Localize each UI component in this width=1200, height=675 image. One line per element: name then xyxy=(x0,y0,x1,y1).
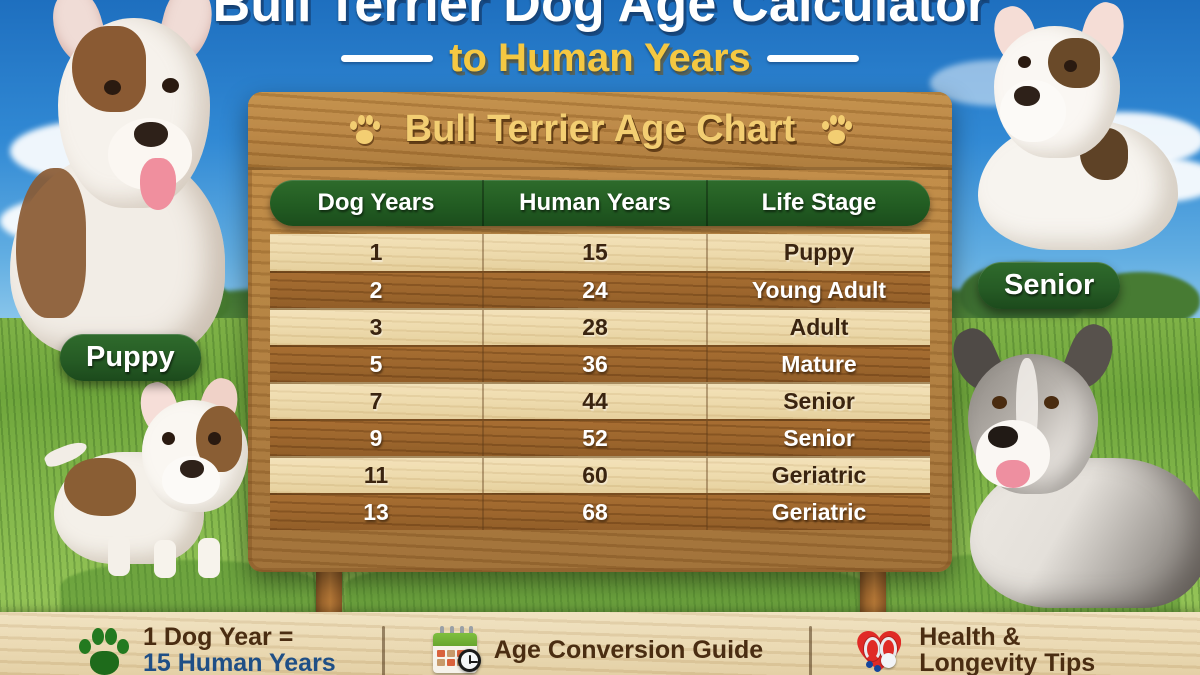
table-row: 7 44 Senior xyxy=(270,382,930,419)
badge-puppy: Puppy xyxy=(60,334,201,381)
cell-human-years: 44 xyxy=(482,384,706,419)
footer-item-health: Health & Longevity Tips xyxy=(852,624,1095,675)
cell-dog-years: 13 xyxy=(270,495,482,530)
table-body: 1 15 Puppy 2 24 Young Adult 3 28 Adult 5… xyxy=(270,234,930,530)
age-chart-table: Dog Years Human Years Life Stage 1 15 Pu… xyxy=(270,180,930,530)
cell-dog-years: 11 xyxy=(270,458,482,493)
rule-left xyxy=(341,55,433,62)
page-title: Bull Terrier Dog Age Calculator xyxy=(0,0,1200,34)
footer-item-conversion: 1 Dog Year = 15 Human Years xyxy=(78,624,336,675)
cell-human-years: 24 xyxy=(482,273,706,308)
cell-human-years: 68 xyxy=(482,495,706,530)
cell-dog-years: 3 xyxy=(270,310,482,345)
heart-stethoscope-icon xyxy=(852,625,906,675)
sign-header: Bull Terrier Age Chart xyxy=(248,92,952,170)
column-header-life-stage: Life Stage xyxy=(706,180,930,226)
page-subtitle: to Human Years xyxy=(449,36,751,81)
footer-line-2: 15 Human Years xyxy=(143,650,336,675)
column-header-human-years: Human Years xyxy=(482,180,706,226)
wooden-sign-board: Bull Terrier Age Chart Dog Years Human Y… xyxy=(248,92,952,572)
green-paw-icon xyxy=(78,626,130,675)
footer-line-1: Health & xyxy=(919,624,1095,650)
paw-print-icon xyxy=(821,113,851,146)
footer-text-block: 1 Dog Year = 15 Human Years xyxy=(143,624,336,675)
footer-divider xyxy=(382,626,385,675)
cell-human-years: 36 xyxy=(482,347,706,382)
table-row: 5 36 Mature xyxy=(270,345,930,382)
cell-dog-years: 9 xyxy=(270,421,482,456)
cell-life-stage: Puppy xyxy=(706,234,930,271)
calendar-clock-icon xyxy=(431,626,481,674)
footer-item-guide: Age Conversion Guide xyxy=(431,624,763,674)
cell-life-stage: Mature xyxy=(706,347,930,382)
footer-divider xyxy=(809,626,812,675)
column-header-dog-years: Dog Years xyxy=(270,180,482,226)
footer-text-block: Health & Longevity Tips xyxy=(919,624,1095,675)
dog-photo-senior xyxy=(930,308,1200,608)
cell-human-years: 60 xyxy=(482,458,706,493)
page-subtitle-row: to Human Years xyxy=(0,36,1200,81)
footer-bar: 1 Dog Year = 15 Human Years Age Conversi… xyxy=(0,612,1200,675)
table-row: 9 52 Senior xyxy=(270,419,930,456)
cell-life-stage: Senior xyxy=(706,384,930,419)
dog-photo-puppy xyxy=(50,378,290,578)
cell-life-stage: Young Adult xyxy=(706,273,930,308)
footer-label-guide: Age Conversion Guide xyxy=(494,624,763,665)
cell-dog-years: 5 xyxy=(270,347,482,382)
table-row: 3 28 Adult xyxy=(270,308,930,345)
rule-right xyxy=(767,55,859,62)
footer-line-2: Longevity Tips xyxy=(919,650,1095,675)
table-row: 1 15 Puppy xyxy=(270,234,930,271)
cell-life-stage: Adult xyxy=(706,310,930,345)
cell-human-years: 28 xyxy=(482,310,706,345)
cell-dog-years: 2 xyxy=(270,273,482,308)
cell-human-years: 15 xyxy=(482,234,706,271)
infographic-canvas: Bull Terrier Age Chart Dog Years Human Y… xyxy=(0,0,1200,675)
page-title-block: Bull Terrier Dog Age Calculator to Human… xyxy=(0,0,1200,81)
footer-line-1: 1 Dog Year = xyxy=(143,624,336,650)
table-row: 13 68 Geriatric xyxy=(270,493,930,530)
badge-senior: Senior xyxy=(978,262,1120,309)
chart-title: Bull Terrier Age Chart xyxy=(405,108,796,151)
table-header-row: Dog Years Human Years Life Stage xyxy=(270,180,930,226)
paw-print-icon xyxy=(349,113,379,146)
table-row: 2 24 Young Adult xyxy=(270,271,930,308)
cell-human-years: 52 xyxy=(482,421,706,456)
cell-life-stage: Geriatric xyxy=(706,495,930,530)
cell-life-stage: Senior xyxy=(706,421,930,456)
cell-dog-years: 1 xyxy=(270,234,482,271)
cell-life-stage: Geriatric xyxy=(706,458,930,493)
table-row: 11 60 Geriatric xyxy=(270,456,930,493)
cell-dog-years: 7 xyxy=(270,384,482,419)
